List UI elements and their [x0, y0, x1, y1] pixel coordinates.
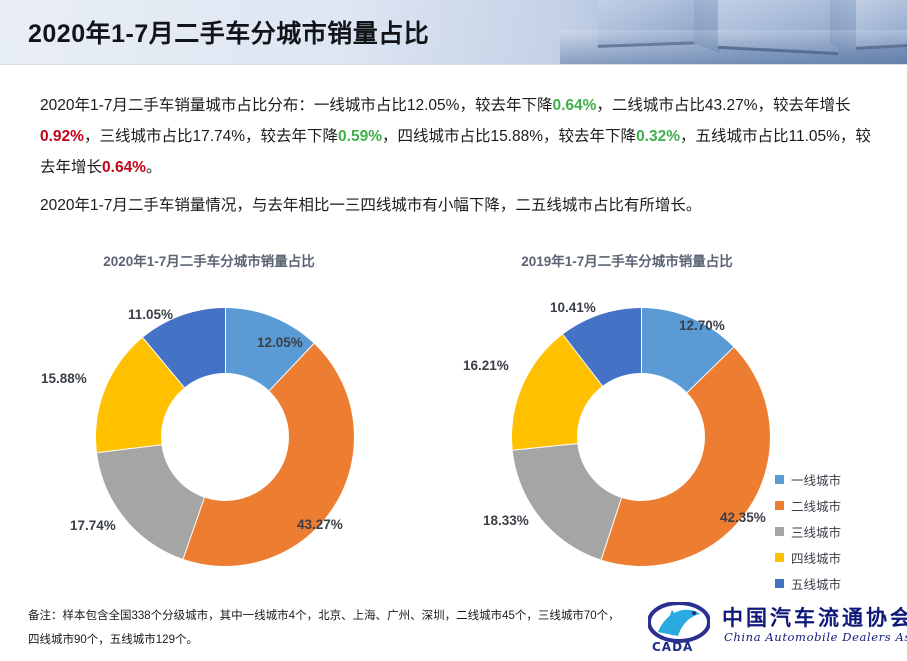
legend-label: 三线城市 — [791, 522, 841, 541]
intro-text-run: 。 — [146, 159, 162, 176]
donut-2019 — [512, 308, 770, 566]
legend-item-4[interactable]: 四线城市 — [775, 544, 841, 570]
decrease-value: 0.59% — [338, 128, 382, 145]
logo-name-en: China Automobile Dealers Association — [724, 630, 907, 644]
legend-item-3[interactable]: 三线城市 — [775, 518, 841, 544]
chart-title-2020: 2020年1-7月二手车分城市销量占比 — [22, 250, 442, 270]
legend-swatch-icon — [775, 579, 784, 588]
decrease-value: 0.32% — [636, 128, 680, 145]
pie-data-label: 10.41% — [550, 300, 596, 315]
decrease-value: 0.64% — [552, 97, 596, 114]
intro-text-run: ，二线城市占比43.27%，较去年增长 — [596, 97, 850, 114]
chart-legend: 一线城市二线城市三线城市四线城市五线城市 — [775, 466, 841, 596]
footnote-text: 备注：样本包含全国338个分级城市，其中一线城市4个，北京、上海、广州、深圳，二… — [28, 604, 628, 652]
slice-divider — [641, 308, 642, 437]
pie-data-label: 12.70% — [679, 318, 725, 333]
logo-name-cn: 中国汽车流通协会 — [722, 602, 907, 632]
page-title: 2020年1-7月二手车分城市销量占比 — [28, 14, 429, 50]
slide-header: 2020年1-7月二手车分城市销量占比 — [0, 0, 907, 64]
pie-data-label: 18.33% — [483, 513, 529, 528]
legend-label: 四线城市 — [791, 548, 841, 567]
intro-text-run: ，三线城市占比17.74%，较去年下降 — [84, 128, 338, 145]
legend-label: 五线城市 — [791, 574, 841, 593]
cada-logo: CADA 中国汽车流通协会 China Automobile Dealers A… — [648, 600, 898, 656]
pie-data-label: 11.05% — [128, 307, 173, 322]
pie-data-label: 16.21% — [463, 358, 509, 373]
intro-paragraph: 2020年1-7月二手车销量城市占比分布：一线城市占比12.05%，较去年下降0… — [40, 90, 876, 183]
legend-item-1[interactable]: 一线城市 — [775, 466, 841, 492]
logo-acronym: CADA — [652, 640, 693, 654]
legend-swatch-icon — [775, 553, 784, 562]
legend-label: 一线城市 — [791, 470, 841, 489]
slide-canvas: 2020年1-7月二手车分城市销量占比 2020年1-7月二手车销量城市占比分布… — [0, 0, 907, 661]
pie-data-label: 15.88% — [41, 371, 87, 386]
chart-2020-donut: 2020年1-7月二手车分城市销量占比 12.05%43.27%17.74%15… — [22, 240, 442, 580]
pie-data-label: 42.35% — [720, 510, 766, 525]
legend-swatch-icon — [775, 475, 784, 484]
summary-paragraph: 2020年1-7月二手车销量情况，与去年相比一三四线城市有小幅下降，二五线城市占… — [40, 190, 876, 221]
pie-data-label: 43.27% — [297, 517, 343, 532]
chart-title-2019: 2019年1-7月二手车分城市销量占比 — [450, 250, 870, 270]
legend-item-5[interactable]: 五线城市 — [775, 570, 841, 596]
slice-divider — [225, 308, 226, 437]
intro-text-run: 2020年1-7月二手车销量城市占比分布：一线城市占比12.05%，较去年下降 — [40, 97, 552, 114]
header-divider — [0, 64, 907, 65]
legend-swatch-icon — [775, 527, 784, 536]
pie-data-label: 12.05% — [257, 335, 303, 350]
increase-value: 0.64% — [102, 159, 146, 176]
pie-data-label: 17.74% — [70, 518, 116, 533]
legend-swatch-icon — [775, 501, 784, 510]
intro-text-run: ，四线城市占比15.88%，较去年下降 — [382, 128, 636, 145]
increase-value: 0.92% — [40, 128, 84, 145]
legend-item-2[interactable]: 二线城市 — [775, 492, 841, 518]
header-floor-sheen — [560, 30, 907, 64]
legend-label: 二线城市 — [791, 496, 841, 515]
